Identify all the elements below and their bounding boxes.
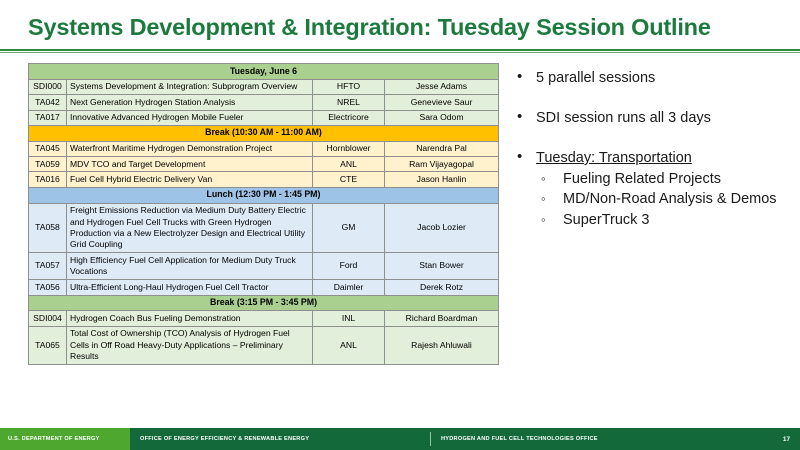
session-id: SDI000	[29, 79, 67, 94]
session-id: TA065	[29, 326, 67, 364]
session-org: HFTO	[313, 79, 385, 94]
bullet-sdi-runs-3-days: SDI session runs all 3 days	[512, 108, 790, 128]
break-morning-header: Break (10:30 AM - 11:00 AM)	[29, 125, 499, 141]
footer-page-number: 17	[754, 428, 800, 450]
session-presenter: Sara Odom	[385, 110, 499, 125]
session-org: ANL	[313, 157, 385, 172]
session-title: Waterfront Maritime Hydrogen Demonstrati…	[67, 141, 313, 156]
bullet-tuesday-transportation: Tuesday: Transportation	[512, 148, 790, 168]
session-org: Hornblower	[313, 141, 385, 156]
page-title: Systems Development & Integration: Tuesd…	[28, 14, 768, 41]
session-org: Ford	[313, 253, 385, 280]
session-id: TA059	[29, 157, 67, 172]
bullet-parallel-sessions: 5 parallel sessions	[512, 68, 790, 88]
session-org: CTE	[313, 172, 385, 187]
table-band-row: Lunch (12:30 PM - 1:45 PM)	[29, 187, 499, 203]
session-presenter: Ram Vijayagopal	[385, 157, 499, 172]
session-id: TA058	[29, 203, 67, 253]
footer-hfto-label: HYDROGEN AND FUEL CELL TECHNOLOGIES OFFI…	[431, 428, 754, 450]
session-presenter: Jesse Adams	[385, 79, 499, 94]
session-id: SDI004	[29, 311, 67, 326]
table-row[interactable]: TA042 Next Generation Hydrogen Station A…	[29, 95, 499, 110]
session-presenter: Jacob Lozier	[385, 203, 499, 253]
slide-footer: U.S. DEPARTMENT OF ENERGY OFFICE OF ENER…	[0, 428, 800, 450]
session-presenter: Narendra Pal	[385, 141, 499, 156]
session-org: GM	[313, 203, 385, 253]
lunch-header: Lunch (12:30 PM - 1:45 PM)	[29, 187, 499, 203]
subbullet-md-nonroad-analysis: MD/Non-Road Analysis & Demos	[512, 190, 790, 209]
session-title: Next Generation Hydrogen Station Analysi…	[67, 95, 313, 110]
session-title: MDV TCO and Target Development	[67, 157, 313, 172]
transportation-sublist: Fueling Related Projects MD/Non-Road Ana…	[512, 170, 790, 230]
slide-canvas: Systems Development & Integration: Tuesd…	[0, 0, 800, 450]
table-row[interactable]: TA059 MDV TCO and Target Development ANL…	[29, 157, 499, 172]
session-presenter: Derek Rotz	[385, 280, 499, 295]
session-id: TA017	[29, 110, 67, 125]
session-title: Innovative Advanced Hydrogen Mobile Fuel…	[67, 110, 313, 125]
table-row[interactable]: TA065 Total Cost of Ownership (TCO) Anal…	[29, 326, 499, 364]
session-title: Systems Development & Integration: Subpr…	[67, 79, 313, 94]
session-id: TA057	[29, 253, 67, 280]
session-title: Ultra-Efficient Long-Haul Hydrogen Fuel …	[67, 280, 313, 295]
session-id: TA045	[29, 141, 67, 156]
session-id: TA056	[29, 280, 67, 295]
table-row[interactable]: TA056 Ultra-Efficient Long-Haul Hydrogen…	[29, 280, 499, 295]
session-presenter: Stan Bower	[385, 253, 499, 280]
session-org: NREL	[313, 95, 385, 110]
session-title: High Efficiency Fuel Cell Application fo…	[67, 253, 313, 280]
table-row[interactable]: SDI000 Systems Development & Integration…	[29, 79, 499, 94]
table-row[interactable]: TA045 Waterfront Maritime Hydrogen Demon…	[29, 141, 499, 156]
title-divider-secondary	[0, 52, 800, 53]
subbullet-fueling-related-projects: Fueling Related Projects	[512, 170, 790, 189]
session-id: TA016	[29, 172, 67, 187]
table-row[interactable]: TA058 Freight Emissions Reduction via Me…	[29, 203, 499, 253]
session-presenter: Jason Hanlin	[385, 172, 499, 187]
session-id: TA042	[29, 95, 67, 110]
agenda-table: Tuesday, June 6 SDI000 Systems Developme…	[28, 63, 499, 365]
session-org: ANL	[313, 326, 385, 364]
session-presenter: Genevieve Saur	[385, 95, 499, 110]
session-org: INL	[313, 311, 385, 326]
table-row[interactable]: TA016 Fuel Cell Hybrid Electric Delivery…	[29, 172, 499, 187]
break-afternoon-header: Break (3:15 PM - 3:45 PM)	[29, 295, 499, 311]
table-row[interactable]: TA017 Innovative Advanced Hydrogen Mobil…	[29, 110, 499, 125]
session-title: Fuel Cell Hybrid Electric Delivery Van	[67, 172, 313, 187]
session-title: Hydrogen Coach Bus Fueling Demonstration	[67, 311, 313, 326]
session-presenter: Richard Boardman	[385, 311, 499, 326]
session-org: Electricore	[313, 110, 385, 125]
session-title: Total Cost of Ownership (TCO) Analysis o…	[67, 326, 313, 364]
session-title: Freight Emissions Reduction via Medium D…	[67, 203, 313, 253]
table-row[interactable]: SDI004 Hydrogen Coach Bus Fueling Demons…	[29, 311, 499, 326]
footer-eere-label: OFFICE OF ENERGY EFFICIENCY & RENEWABLE …	[130, 428, 430, 450]
title-divider	[0, 49, 800, 51]
subbullet-supertruck-3: SuperTruck 3	[512, 211, 790, 230]
day-header: Tuesday, June 6	[29, 64, 499, 80]
table-band-row: Break (10:30 AM - 11:00 AM)	[29, 125, 499, 141]
footer-doe-label: U.S. DEPARTMENT OF ENERGY	[0, 428, 130, 450]
table-band-row: Tuesday, June 6	[29, 64, 499, 80]
session-org: Daimler	[313, 280, 385, 295]
notes-bullet-list: 5 parallel sessions SDI session runs all…	[512, 68, 790, 231]
bullet-tuesday-transportation-label: Tuesday: Transportation	[536, 150, 692, 166]
session-presenter: Rajesh Ahluwali	[385, 326, 499, 364]
table-row[interactable]: TA057 High Efficiency Fuel Cell Applicat…	[29, 253, 499, 280]
table-band-row: Break (3:15 PM - 3:45 PM)	[29, 295, 499, 311]
